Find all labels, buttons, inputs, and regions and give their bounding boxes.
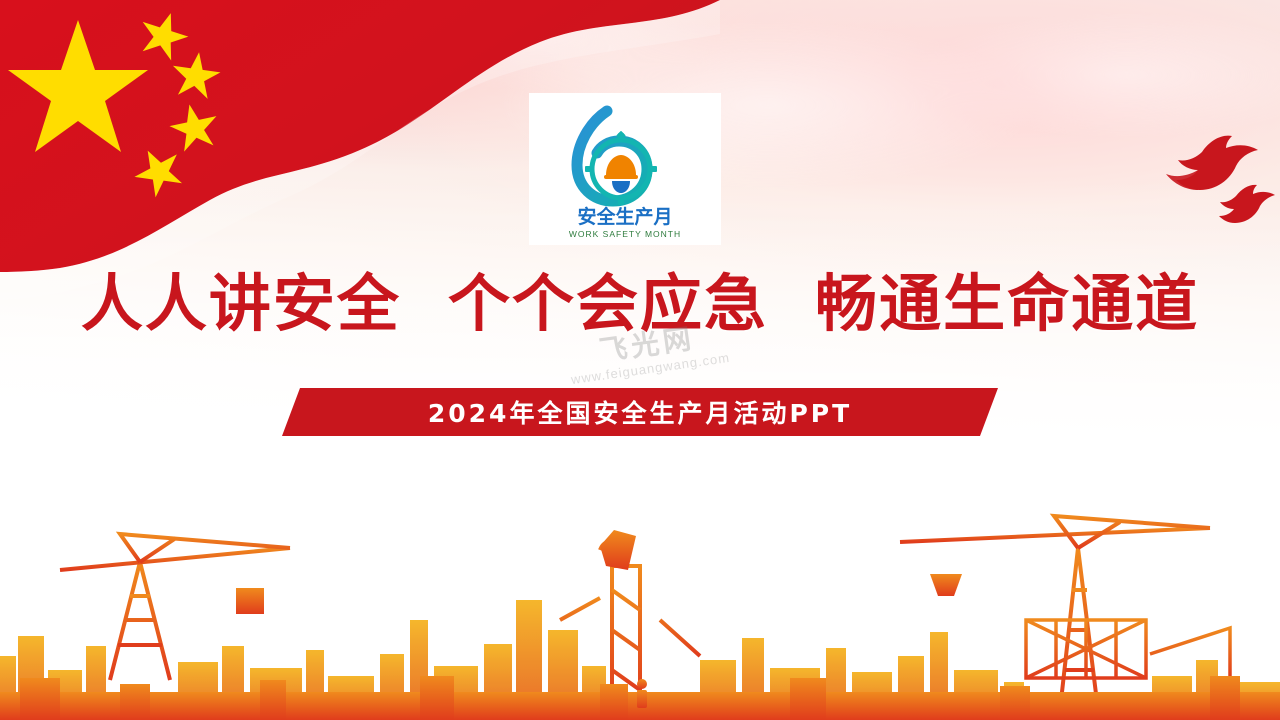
- subtitle-text: 2024年全国安全生产月活动PPT: [428, 394, 852, 430]
- crane-right-bucket: [930, 574, 962, 596]
- slide-canvas: 安全生产月 WORK SAFETY MONTH 人人讲安全 个个会应急 畅通生命…: [0, 0, 1280, 720]
- small-star-4: [126, 139, 190, 201]
- construction-skyline: [0, 470, 1280, 720]
- small-star-2: [169, 49, 223, 100]
- crane-center-arm: [560, 598, 700, 656]
- big-star: [8, 20, 148, 152]
- flag-stars: [0, 0, 360, 240]
- worker-silhouette: [637, 679, 647, 708]
- safety-month-logo: 安全生产月 WORK SAFETY MONTH: [529, 93, 721, 245]
- subtitle-ribbon: 2024年全国安全生产月活动PPT: [300, 388, 980, 436]
- helmet-icon: [604, 155, 638, 193]
- page-title: 人人讲安全 个个会应急 畅通生命通道: [0, 268, 1280, 340]
- svg-text:安全生产月: 安全生产月: [577, 205, 672, 228]
- small-star-3: [166, 99, 222, 153]
- small-star-1: [134, 6, 194, 64]
- svg-text:WORK SAFETY MONTH: WORK SAFETY MONTH: [569, 229, 681, 239]
- peace-doves: [1140, 100, 1280, 240]
- dove-icon-2: [1219, 185, 1275, 223]
- crane-left-load: [236, 588, 264, 614]
- dove-wing-1: [1166, 170, 1198, 190]
